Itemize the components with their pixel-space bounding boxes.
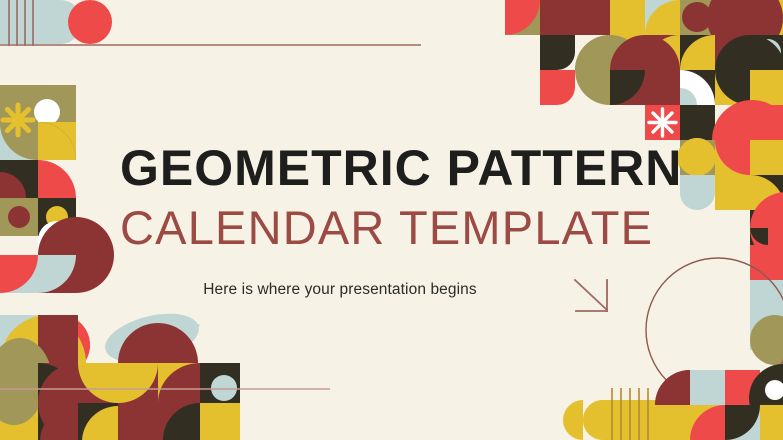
page-title-line2: CALENDAR TEMPLATE <box>120 204 680 251</box>
page-title-line1: GEOMETRIC PATTERN <box>120 143 680 193</box>
slide-canvas: GEOMETRIC PATTERN CALENDAR TEMPLATE Here… <box>0 0 783 440</box>
page-subtitle: Here is where your presentation begins <box>120 281 560 299</box>
slide-text-layer: GEOMETRIC PATTERN CALENDAR TEMPLATE Here… <box>0 0 783 440</box>
